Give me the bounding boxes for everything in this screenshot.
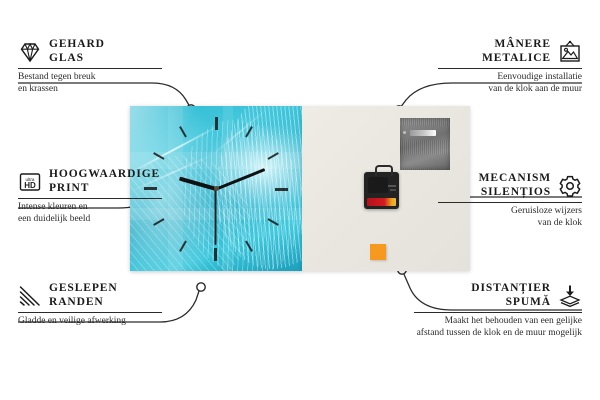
callout-polished-edges: GESLEPEN RANDEN Gladde en veilige afwerk… xyxy=(18,282,162,328)
ultra-hd-icon: ultra HD xyxy=(18,170,42,194)
clock-tick-3 xyxy=(216,188,288,190)
diamond-icon xyxy=(18,40,42,64)
endpoint-polished-edges xyxy=(197,283,205,291)
callout-divider xyxy=(414,312,582,313)
clock-center-cap xyxy=(214,186,219,191)
callout-subtitle: Gladde en veilige afwerking xyxy=(18,316,162,328)
callout-header: GEHARD GLAS xyxy=(18,38,162,65)
framed-picture-icon xyxy=(558,40,582,64)
callout-title: GEHARD GLAS xyxy=(49,38,105,65)
callout-header: DISTANȚIER SPUMĂ xyxy=(414,282,582,309)
callout-high-quality-print: ultra HD HOOGWAARDIGE PRINT Intense kleu… xyxy=(18,168,162,225)
product-image xyxy=(130,106,470,271)
callout-divider xyxy=(18,68,162,69)
callout-divider xyxy=(18,312,162,313)
callout-divider xyxy=(438,202,582,203)
battery xyxy=(367,198,396,206)
callout-subtitle: Geruisloze wijzers van de klok xyxy=(438,206,582,229)
infographic-stage: GEHARD GLAS Bestand tegen breuk en krass… xyxy=(0,0,600,400)
svg-text:HD: HD xyxy=(24,181,36,190)
hanger-hole xyxy=(403,131,406,134)
callout-header: MECANISM SILENȚIOS xyxy=(438,172,582,199)
spacer-layers-icon xyxy=(558,284,582,308)
callout-subtitle: Bestand tegen breuk en krassen xyxy=(18,72,162,95)
clock-tick-12 xyxy=(215,117,217,189)
callout-title: GESLEPEN RANDEN xyxy=(49,282,118,309)
callout-metal-handles: MÂNERE METALICE Eenvoudige installatie v… xyxy=(438,38,582,95)
gear-icon xyxy=(558,174,582,198)
callout-header: ultra HD HOOGWAARDIGE PRINT xyxy=(18,168,162,195)
callout-foam-spacer: DISTANȚIER SPUMĂ Maakt het behouden van … xyxy=(414,282,582,339)
callout-title: MECANISM SILENȚIOS xyxy=(479,172,551,199)
mechanism-hanger-hook xyxy=(375,165,393,176)
callout-tempered-glass: GEHARD GLAS Bestand tegen breuk en krass… xyxy=(18,38,162,95)
callout-title: DISTANȚIER SPUMĂ xyxy=(471,282,551,309)
mechanism-body xyxy=(368,177,388,193)
callout-divider xyxy=(438,68,582,69)
metal-hanger-plate xyxy=(400,118,450,170)
callout-subtitle: Intense kleuren en een duidelijk beeld xyxy=(18,202,162,225)
mechanism-label-line-2 xyxy=(390,189,396,191)
callout-title: MÂNERE METALICE xyxy=(482,38,551,65)
callout-silent-mechanism: MECANISM SILENȚIOS Geruisloze wijzers va… xyxy=(438,172,582,229)
mechanism-label-line-1 xyxy=(388,185,396,187)
callout-subtitle: Eenvoudige installatie van de klok aan d… xyxy=(438,72,582,95)
foam-spacer xyxy=(370,244,386,260)
polished-edges-icon xyxy=(18,284,42,308)
callout-subtitle: Maakt het behouden van een gelijke afsta… xyxy=(414,316,582,339)
hanger-slot xyxy=(410,130,436,136)
callout-header: GESLEPEN RANDEN xyxy=(18,282,162,309)
callout-divider xyxy=(18,198,162,199)
callout-header: MÂNERE METALICE xyxy=(438,38,582,65)
quartz-clock-mechanism xyxy=(364,172,399,209)
callout-title: HOOGWAARDIGE PRINT xyxy=(49,168,160,195)
